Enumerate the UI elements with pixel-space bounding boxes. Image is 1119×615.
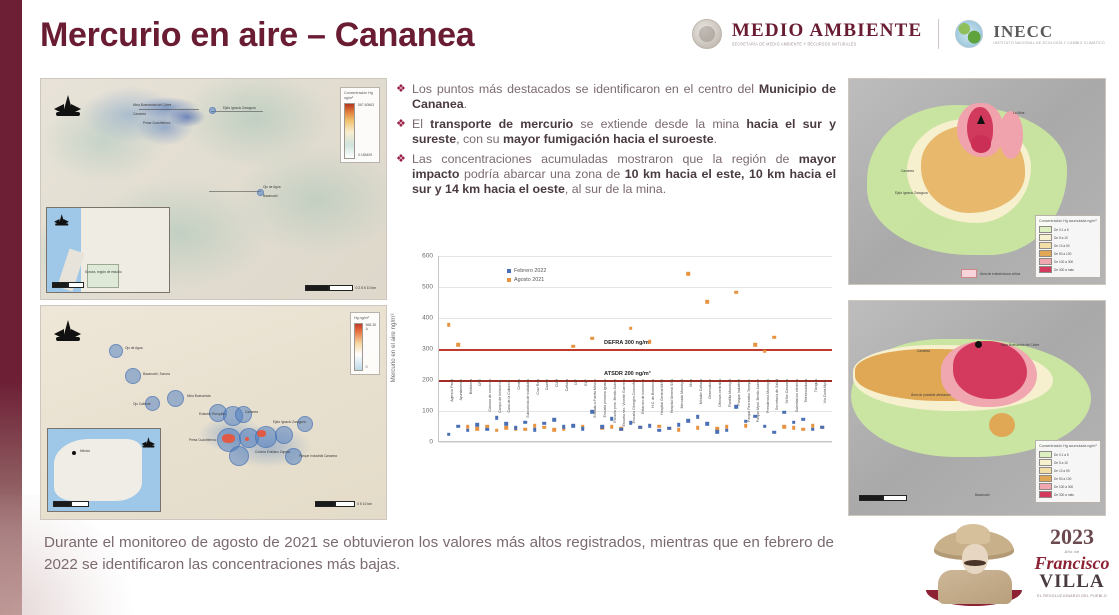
- site-label: Presa Cuauhtémoc: [189, 438, 216, 442]
- data-point: [706, 300, 710, 304]
- y-tick-label: 100: [393, 408, 433, 415]
- x-tick-label: Mirador Cañada: [699, 379, 703, 445]
- ministry-subtitle: SECRETARÍA DE MEDIO AMBIENTE Y RECURSOS …: [732, 43, 922, 47]
- map-legend: Hg ng/m³ 568.35 A 0: [350, 312, 380, 375]
- map-legend: Concentración Hg acumulada ng/m³ De 0.1 …: [1035, 440, 1101, 503]
- legend-swatch: [1039, 451, 1052, 458]
- legend-band-label: De 5 a 10: [1054, 236, 1068, 240]
- data-point: [571, 345, 575, 349]
- scale-label: 0 5 10 km: [357, 502, 372, 506]
- site-marker: [297, 416, 313, 432]
- page-title: Mercurio en aire – Cananea: [40, 16, 474, 55]
- chart-legend: Febrero 2022Agosto 2021: [507, 268, 546, 286]
- institute-subtitle: INSTITUTO NACIONAL DE ECOLOGÍA Y CAMBIO …: [993, 42, 1105, 45]
- y-tick-label: 400: [393, 315, 433, 322]
- map-scale-bar: 0 5 10 km: [315, 501, 372, 507]
- map-plume-accumulated-2[interactable]: Mina Buenavista del Cobre Cananea Área d…: [848, 300, 1106, 516]
- site-marker: [167, 390, 184, 407]
- site-label: Mina Buenavista: [187, 394, 211, 398]
- mercury-scatter-chart[interactable]: Mercurio en el aire ng/m³ 01002003004005…: [392, 252, 840, 514]
- site-marker: [209, 107, 216, 114]
- map-annotation: Mina Buenavista del Cobre: [1001, 343, 1039, 347]
- legend-band-label: De 10 a 50: [1054, 244, 1070, 248]
- x-tick-label: ELP: [584, 379, 588, 445]
- leader-line: [139, 109, 199, 110]
- x-tick-label: Escuela primaria Ignacio: [603, 379, 607, 445]
- legend-title: Hg ng/m³: [354, 316, 376, 321]
- map-annotation: Área de probable afectación: [911, 393, 951, 397]
- plume-band-vhigh: [999, 111, 1023, 159]
- x-tick-label: Parque Mpal. Benito Juárez: [756, 379, 760, 445]
- legend-band-label: De 10 a 50: [1054, 469, 1070, 473]
- site-label: Ojo de Agua: [263, 185, 281, 189]
- legend-swatch: [1039, 250, 1052, 257]
- threshold-line: [439, 349, 832, 351]
- x-tick-label: H.C. de Bomberos: [651, 379, 655, 445]
- site-label: Cananea: [245, 410, 258, 414]
- x-tick-label: Biblioteca: [469, 379, 473, 445]
- x-tick-label: Entrada a Puerta México: [593, 379, 597, 445]
- data-point: [754, 343, 758, 347]
- site-marker: [257, 189, 264, 196]
- inset-scale-bar: [53, 501, 89, 507]
- map-monitoring-sites[interactable]: Ojo de Agua Bacanuchi, Sonora Ojo Calien…: [40, 305, 387, 520]
- legend-swatch: [1039, 258, 1052, 265]
- bullet-marker-icon: ❖: [396, 152, 405, 198]
- data-point: [629, 327, 633, 331]
- legend-band-label: De 300 a más: [1054, 268, 1074, 272]
- mine-marker-icon: [977, 115, 985, 124]
- legend-swatch: [1039, 467, 1052, 474]
- x-tick-label: Mina: [689, 379, 693, 445]
- x-tick-label: Agencia Fiscal: [450, 379, 454, 445]
- x-tick-label: Campo de beisbol inf.: [498, 379, 502, 445]
- logo-divider: [938, 19, 939, 49]
- threshold-label: DEFRA 300 ng/m³: [604, 340, 651, 346]
- institute-name: INECC: [993, 23, 1105, 40]
- inset-scale-bar: [52, 282, 84, 288]
- x-tick-label: Mercado Municipal: [680, 379, 684, 445]
- institute-logo: INECC INSTITUTO NACIONAL DE ECOLOGÍA Y C…: [993, 23, 1105, 45]
- x-tick-label: Casa de la Cultura H.: [507, 379, 511, 445]
- left-accent-bar: [0, 0, 22, 615]
- map-scale-bar: 0 2.5 5 10 km: [305, 285, 376, 291]
- legend-band-label: De 300 a más: [1054, 493, 1074, 497]
- legend-item[interactable]: Agosto 2021: [507, 277, 546, 283]
- map-annotation: Ejido Ignacio Zaragoza: [895, 191, 928, 195]
- site-label: Estación Ronquillo: [199, 412, 225, 416]
- legend-swatch: [507, 278, 511, 282]
- data-point: [456, 343, 460, 347]
- data-point: [763, 349, 767, 353]
- x-tick-label: Parque Industrial: [737, 379, 741, 445]
- gridline: [439, 256, 832, 257]
- x-tick-label: Cámara de comercio: [488, 379, 492, 445]
- legend-band-label: De 100 a 300: [1054, 260, 1073, 264]
- slide-caption: Durante el monitoreo de agosto de 2021 s…: [44, 532, 834, 576]
- site-marker: [125, 368, 141, 384]
- site-hotspot: [245, 437, 249, 441]
- x-tick-label: Observatorio: [708, 379, 712, 445]
- legend-title: Concentración Hg ng/m³: [344, 91, 376, 101]
- site-marker: [235, 406, 252, 423]
- x-tick-label: CFE: [478, 379, 482, 445]
- map-annotation: Cananea: [917, 349, 930, 353]
- legend-swatch: [1039, 491, 1052, 498]
- x-tick-label: DIF: [574, 379, 578, 445]
- legend-bands: De 0.1 a 5 De 5 a 10 De 10 a 50 De 50 a …: [1039, 451, 1097, 498]
- x-tick-label: Parque Recreativo Tepeyac: [747, 379, 751, 445]
- map-annotation: Bacanuchi: [975, 493, 990, 497]
- data-point: [591, 336, 595, 340]
- x-tick-label: Hospital General SSA: [670, 379, 674, 445]
- bullet-marker-icon: ❖: [396, 82, 405, 113]
- site-marker: [229, 446, 249, 466]
- emblem-last-name: VILLA: [1026, 572, 1118, 592]
- legend-color-ramp: [354, 323, 363, 371]
- legend-item[interactable]: Febrero 2022: [507, 268, 546, 274]
- site-label: Ojo Caliente: [133, 402, 151, 406]
- left-accent-bar-inner: [22, 0, 31, 615]
- legend-bands: De 0.1 a 5 De 5 a 10 De 10 a 50 De 50 a …: [1039, 226, 1097, 273]
- site-marker: [109, 344, 123, 358]
- site-label: Ojo de Agua: [125, 346, 143, 350]
- mine-marker-icon: [975, 341, 982, 348]
- legend-min-value: 0: [366, 365, 376, 369]
- legend-band-label: De 50 a 100: [1054, 252, 1071, 256]
- legend-title: Concentración Hg acumulada ng/m³: [1039, 219, 1097, 224]
- x-tick-label: Telesecundaria: [804, 379, 808, 445]
- site-label: Ejido Ignacio Zaragoza: [273, 420, 306, 424]
- legend-swatch: [1039, 266, 1052, 273]
- site-label: Parque Industrial Cananea: [299, 454, 337, 458]
- legend-swatch: [1039, 475, 1052, 482]
- plume-band-max: [971, 135, 991, 153]
- plume-band-max: [953, 341, 1027, 399]
- x-tick-label: Cañada: [565, 379, 569, 445]
- x-tick-label: Escuela sec. Vicente Guerrero: [622, 379, 626, 445]
- x-tick-label: Escuela prim. Benito Juárez: [613, 379, 617, 445]
- bullet-text: Las concentraciones acumuladas mostraron…: [412, 152, 836, 198]
- globe-icon: [955, 20, 983, 48]
- x-tick-label: Subcolecta de vialidades: [526, 379, 530, 445]
- legend-swatch: [1039, 459, 1052, 466]
- bullet-marker-icon: ❖: [396, 117, 405, 148]
- site-label: Presa Cuauhtémoc: [143, 121, 170, 125]
- data-point: [648, 340, 652, 344]
- legend-swatch: [1039, 483, 1052, 490]
- bullet-item: ❖Las concentraciones acumuladas mostraro…: [396, 152, 836, 198]
- legend-color-ramp: [344, 103, 355, 159]
- plume-band-high: [989, 413, 1015, 437]
- bullet-item: ❖El transporte de mercurio se extiende d…: [396, 117, 836, 148]
- inset-label: México: [80, 449, 90, 453]
- x-tick-label: Señor Cananea: [785, 379, 789, 445]
- data-point: [447, 323, 451, 327]
- slide-canvas: Mercurio en aire – Cananea MEDIO AMBIENT…: [0, 0, 1119, 615]
- scale-label: 0 2.5 5 10 km: [355, 286, 376, 290]
- y-tick-label: 0: [393, 439, 433, 446]
- legend-max-value: 568.35 A: [366, 323, 376, 331]
- map-annotation: La Mina: [1013, 111, 1024, 115]
- inset-locator-map: México: [47, 428, 161, 512]
- data-point: [773, 335, 777, 339]
- legend-swatch: [1039, 242, 1052, 249]
- legend-band-label: De 5 a 10: [1054, 461, 1068, 465]
- leader-line: [209, 191, 261, 192]
- data-point: [686, 272, 690, 276]
- x-tick-label: Presidencia Municipal: [766, 379, 770, 445]
- x-tick-label: Cruz Roja: [536, 379, 540, 445]
- map-legend: Concentración Hg acumulada ng/m³ De 0.1 …: [1035, 215, 1101, 278]
- legend-band-label: De 100 a 300: [1054, 485, 1073, 489]
- x-tick-label: Escuela Obregón Comonfort: [632, 379, 636, 445]
- bullet-list: ❖Los puntos más destacados se identifica…: [396, 82, 836, 202]
- villa-emblem: 2023 Año de Francisco VILLA EL REVOLUCIO…: [918, 522, 1118, 614]
- site-label: Ejido Ignacio Zaragoza: [223, 106, 256, 110]
- logo-row: MEDIO AMBIENTE SECRETARÍA DE MEDIO AMBIE…: [692, 14, 1105, 54]
- gridline: [439, 318, 832, 319]
- site-label: Colonia Emiliano Zapata: [255, 450, 290, 454]
- map-annotation: Cananea: [901, 169, 914, 173]
- site-label: Bacanuchi, Sonora: [143, 372, 170, 376]
- x-tick-label: CUM: [555, 379, 559, 445]
- emblem-year: 2023: [1026, 526, 1118, 548]
- x-tick-label: Tianguis: [814, 379, 818, 445]
- legend-label: Febrero 2022: [514, 268, 546, 274]
- legend-title: Concentración Hg acumulada ng/m³: [1039, 444, 1097, 449]
- y-tick-label: 500: [393, 284, 433, 291]
- plume-blob: [169, 107, 205, 127]
- legend-swatch: [507, 269, 511, 273]
- legend-band-label: De 0.1 a 5: [1054, 453, 1069, 457]
- site-marker: [255, 426, 277, 448]
- bullet-item: ❖Los puntos más destacados se identifica…: [396, 82, 836, 113]
- site-marker: [275, 426, 293, 444]
- legend-label: Agosto 2021: [514, 277, 544, 283]
- map-legend: Concentración Hg ng/m³ 567.60863 0.18540…: [340, 87, 380, 163]
- x-tick-label: Ayuntamiento: [459, 379, 463, 445]
- legend-swatch: [1039, 226, 1052, 233]
- emblem-tagline: EL REVOLUCIONARIO DEL PUEBLO: [1026, 594, 1118, 598]
- site-hotspot: [222, 434, 235, 443]
- x-tick-label: Centro: [517, 379, 521, 445]
- emblem-first-name: Francisco: [1026, 554, 1118, 572]
- data-point: [734, 290, 738, 294]
- legend-band-label: De 0.1 a 5: [1054, 228, 1069, 232]
- bullet-text: El transporte de mercurio se extiende de…: [412, 117, 836, 148]
- leader-line: [211, 111, 263, 112]
- x-tick-label: Cuartel: [545, 379, 549, 445]
- site-label: Bacanuchi: [263, 194, 278, 198]
- bullet-text: Los puntos más destacados se identificar…: [412, 82, 836, 113]
- ministry-logo: MEDIO AMBIENTE SECRETARÍA DE MEDIO AMBIE…: [732, 21, 922, 47]
- x-tick-label: Oficinas centrales: [718, 379, 722, 445]
- x-tick-label: Vía Corta Mpio.: [823, 379, 827, 445]
- y-tick-label: 600: [393, 253, 433, 260]
- map-annotation: Área de emisión/zona crítica: [980, 272, 1020, 276]
- legend-swatch: [1039, 234, 1052, 241]
- map-dispersion-terrain[interactable]: Mina Buenavista del Cobre Cananea Presa …: [40, 78, 387, 300]
- x-tick-label: Secretaría de Salud: [775, 379, 779, 445]
- inset-locator-map: Sonora, región de estudio: [46, 207, 170, 293]
- map-plume-accumulated-1[interactable]: La Mina Cananea Ejido Ignacio Zaragoza Á…: [848, 78, 1106, 285]
- legend-min-value: 0.185409: [358, 153, 374, 157]
- x-tick-label: Plantilla Municipal: [728, 379, 732, 445]
- y-tick-label: 300: [393, 346, 433, 353]
- y-tick-label: 200: [393, 377, 433, 384]
- x-tick-label: Subestación eléctrica: [795, 379, 799, 445]
- legend-band-label: De 50 a 100: [1054, 477, 1071, 481]
- x-tick-label: Hospital General IMSS: [660, 379, 664, 445]
- site-hotspot: [257, 430, 266, 437]
- site-label: Mina Buenavista del Cobre: [133, 103, 171, 107]
- map-scale-bar: [859, 495, 907, 501]
- national-seal-icon: [692, 19, 722, 49]
- gridline: [439, 287, 832, 288]
- inset-label: Sonora, región de estudio: [85, 270, 122, 274]
- legend-max-value: 567.60863: [358, 103, 374, 107]
- site-label: Cananea: [133, 112, 146, 116]
- x-tick-label: Estación de bomberos: [641, 379, 645, 445]
- ministry-name: MEDIO AMBIENTE: [732, 21, 922, 40]
- threshold-label: ATSDR 200 ng/m³: [604, 371, 651, 377]
